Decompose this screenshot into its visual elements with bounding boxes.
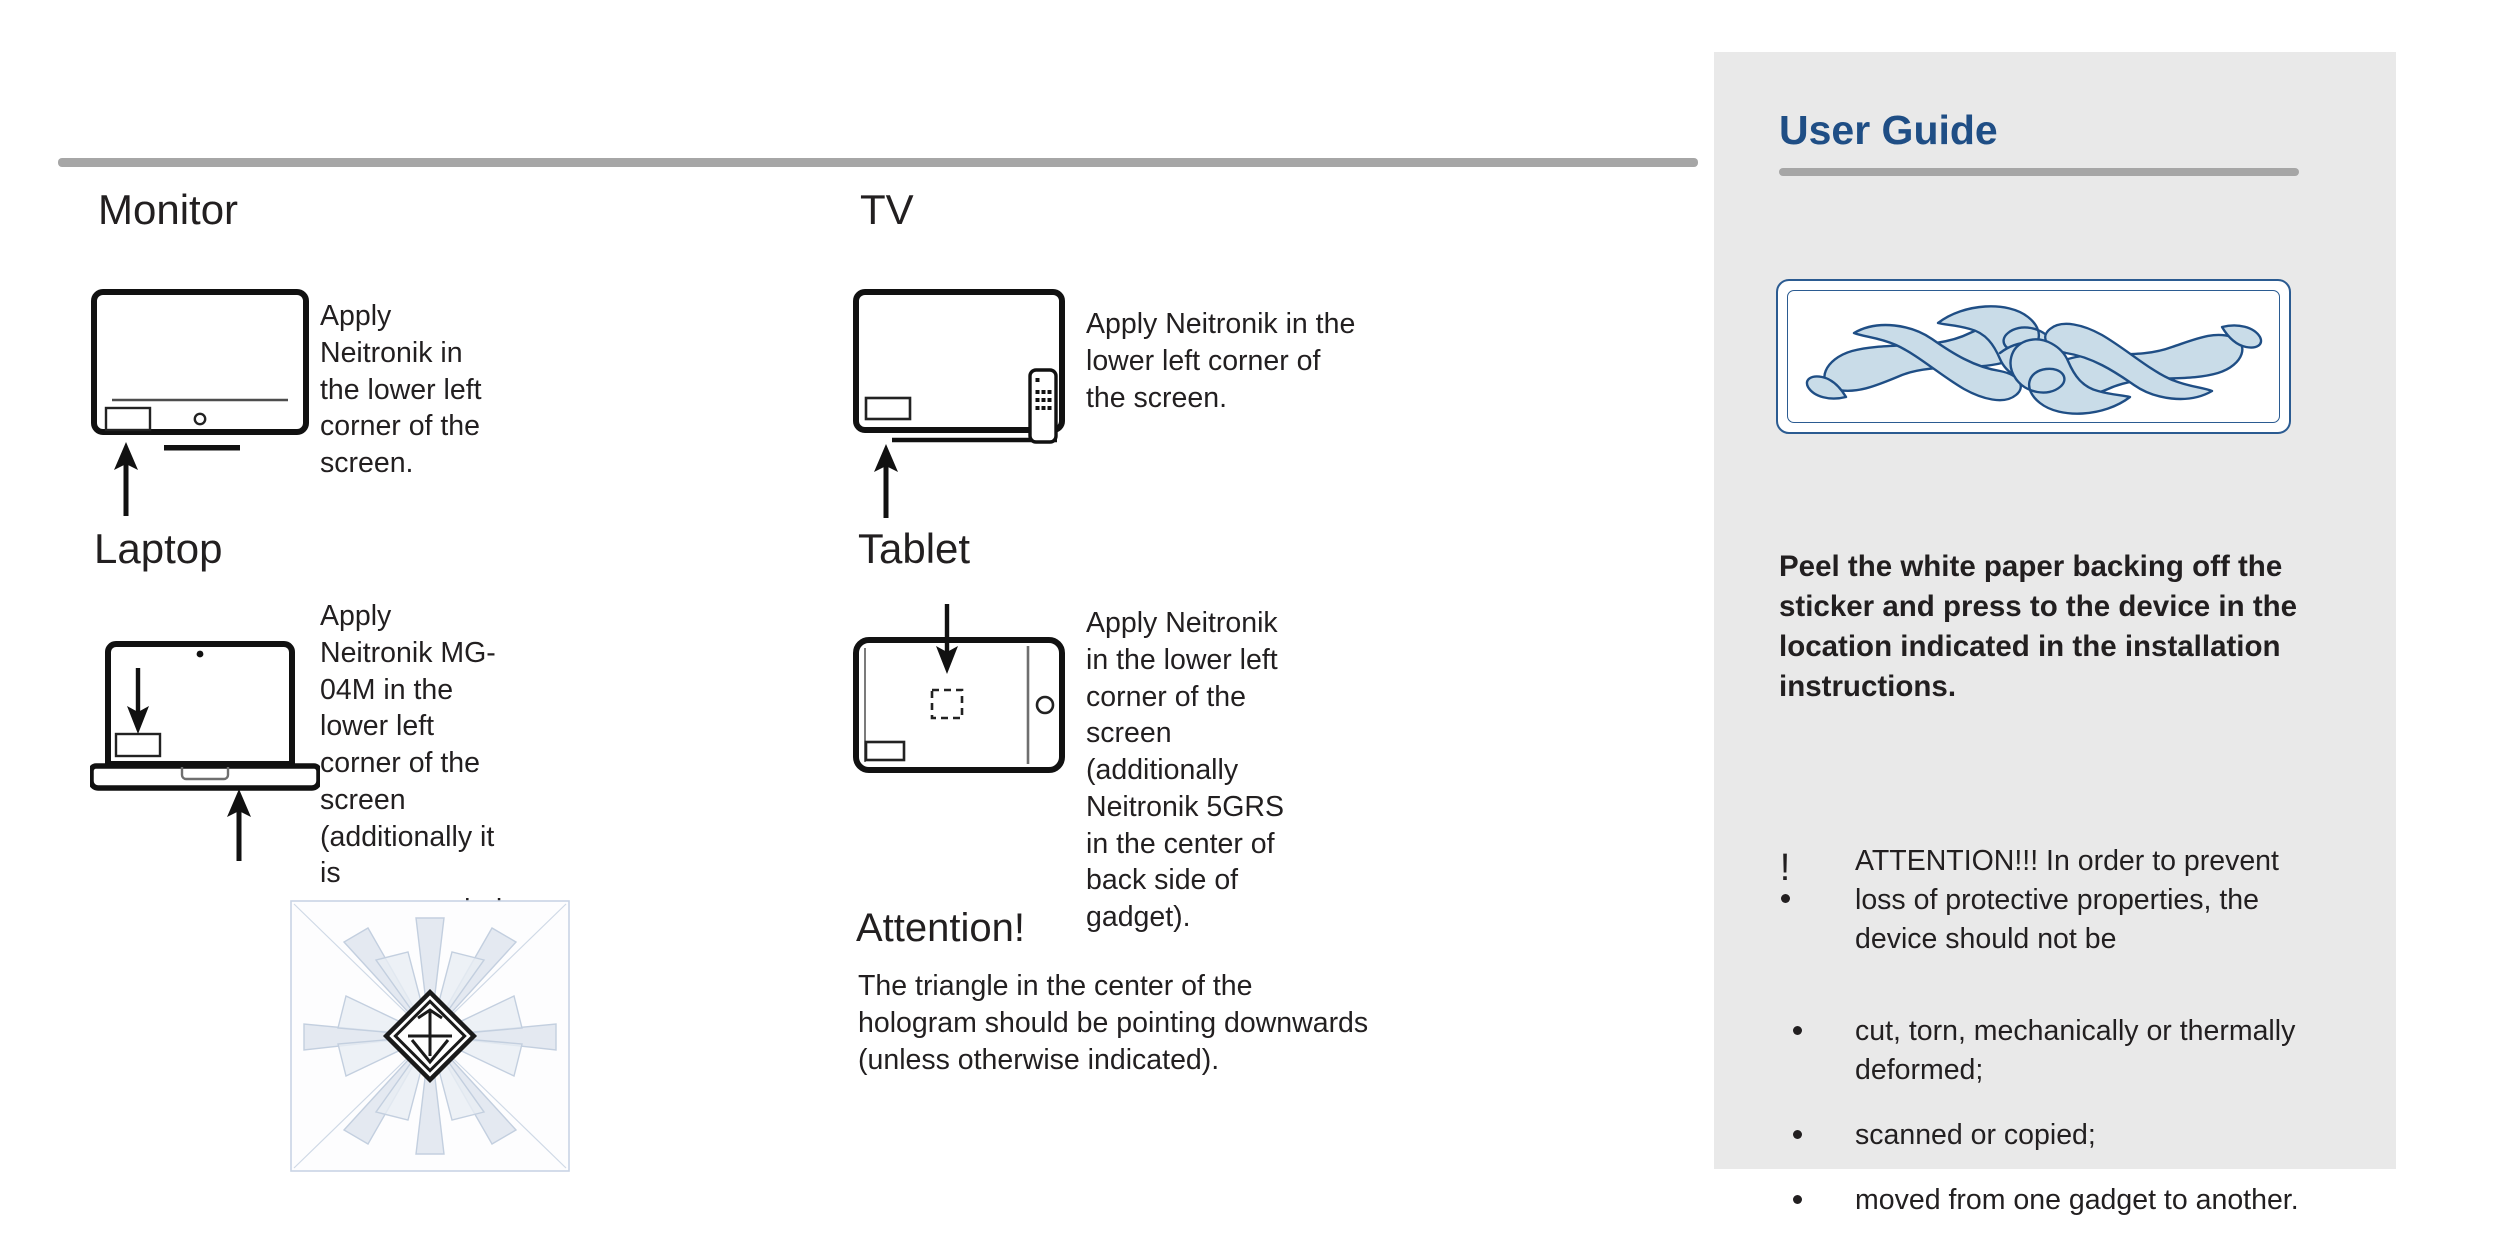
user-guide-sidebar: User Guide <box>1714 52 2396 1169</box>
bullet-dot-icon <box>1793 1195 1802 1204</box>
main-content-area: Monitor Apply Neitronik in the lo <box>0 0 1714 1257</box>
celtic-knot-sticker-icon <box>1787 290 2280 423</box>
tv-instruction-text: Apply Neitronik in the lower left corner… <box>1086 306 1356 416</box>
monitor-instruction-text: Apply Neitronik in the lower left corner… <box>320 298 488 482</box>
device-heading-tv: TV <box>860 186 914 234</box>
attention-heading: Attention! <box>856 906 1025 951</box>
laptop-placement-arrow <box>215 787 275 868</box>
device-heading-tablet: Tablet <box>858 525 970 573</box>
device-heading-laptop: Laptop <box>94 525 222 573</box>
tablet-illustration <box>852 600 1082 780</box>
bullet-dot-icon <box>1793 1026 1802 1035</box>
exclamation-dot-icon <box>1781 894 1790 903</box>
monitor-illustration <box>90 288 320 448</box>
peel-instruction-text: Peel the white paper backing off the sti… <box>1779 547 2339 707</box>
attention-body-text: The triangle in the center of the hologr… <box>858 968 1378 1078</box>
list-item-label: moved from one gadget to another. <box>1855 1181 2392 1220</box>
tv-placement-arrow <box>862 442 922 527</box>
tablet-instruction-text: Apply Neitronik in the lower left corner… <box>1086 605 1291 936</box>
instruction-sheet: Monitor Apply Neitronik in the lo <box>0 0 2501 1257</box>
list-item: moved from one gadget to another. <box>1772 1181 2392 1220</box>
sticker-preview-frame <box>1776 279 2291 434</box>
list-item-label: cut, torn, mechanically or thermally def… <box>1855 1012 2392 1090</box>
bullet-dot-icon <box>1793 1130 1802 1139</box>
laptop-illustration <box>90 630 320 850</box>
list-item: scanned or copied; <box>1772 1116 2392 1155</box>
device-heading-monitor: Monitor <box>98 186 238 234</box>
sidebar-title: User Guide <box>1779 107 1998 154</box>
exclamation-icon: ! <box>1772 849 1798 887</box>
sidebar-title-divider <box>1779 168 2299 176</box>
hologram-star-triangle-seal-icon <box>290 900 570 1172</box>
list-item-label: scanned or copied; <box>1855 1116 2392 1155</box>
monitor-placement-arrow <box>102 440 162 525</box>
sidebar-attention-text: ATTENTION!!! In order to prevent loss of… <box>1855 842 2330 959</box>
header-divider <box>58 158 1698 167</box>
prohibitions-list: cut, torn, mechanically or thermally def… <box>1772 1012 2392 1220</box>
list-item: cut, torn, mechanically or thermally def… <box>1772 1012 2392 1090</box>
